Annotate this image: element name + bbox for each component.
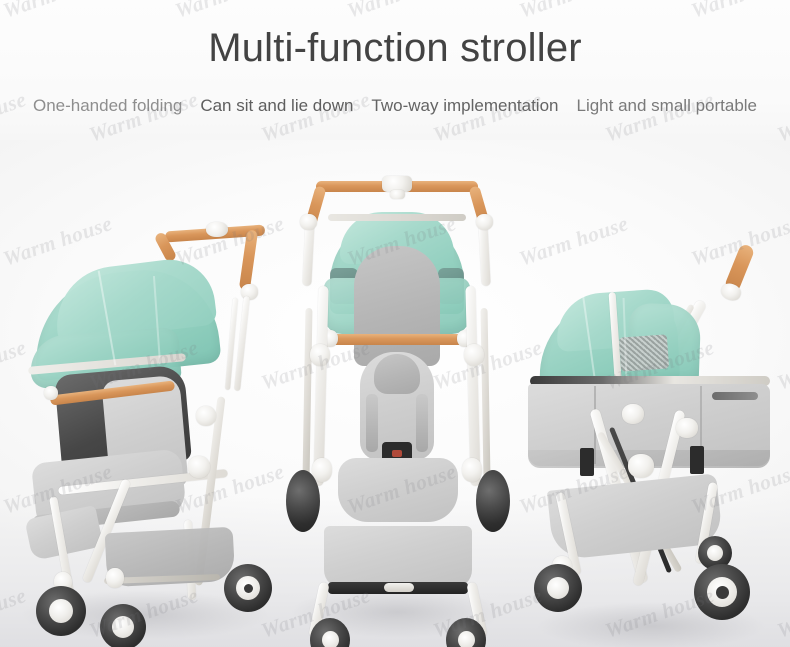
wheel-rear-right xyxy=(476,470,510,532)
wheel-front-left-hub xyxy=(547,577,569,599)
handle-joint-left xyxy=(300,214,317,230)
canopy-rim xyxy=(328,214,466,221)
frame-joint-lower-mid xyxy=(106,568,124,588)
frame-joint-upper-left xyxy=(622,404,644,424)
seat-base-fabric xyxy=(338,458,458,522)
bumper-bar xyxy=(330,334,464,345)
bassinet-strap-right xyxy=(690,446,704,474)
storage-basket xyxy=(324,526,472,588)
wheel-front-right-hub xyxy=(112,616,134,638)
stroller-view-right xyxy=(516,236,784,647)
bassinet-strap-left xyxy=(580,448,594,476)
bassinet-side-vent xyxy=(712,392,758,400)
wheel-front-left-hub xyxy=(322,631,339,647)
banner-header: Multi-function stroller One-handed foldi… xyxy=(0,0,790,140)
frame-rail-right-outer xyxy=(481,308,491,478)
feature-item-light-and-small-portable: Light and small portable xyxy=(568,96,767,116)
feature-item-can-sit-and-lie-down: Can sit and lie down xyxy=(191,96,362,116)
feature-item-one-handed-folding: One-handed folding xyxy=(24,96,191,116)
stroller-view-left xyxy=(10,220,280,647)
basket-bar-center-pad xyxy=(384,583,414,592)
frame-joint-right xyxy=(676,418,698,438)
bumper-bar-joint-left xyxy=(44,386,58,400)
wheel-front-right-hub xyxy=(458,631,475,647)
frame-joint-right-mid xyxy=(464,344,484,366)
handle-center-button xyxy=(390,190,405,199)
frame-rail-right xyxy=(465,286,480,486)
wheel-rear-large-hub-core xyxy=(716,586,729,599)
harness-strap-left xyxy=(366,394,378,452)
frame-rail-left-outer xyxy=(303,308,313,478)
handle-bar-right-curve xyxy=(239,230,258,291)
handle-joint-right xyxy=(476,214,493,230)
harness-buckle-button xyxy=(392,450,402,457)
feature-item-two-way-implementation: Two-way implementation xyxy=(362,96,567,116)
frame-rail-left xyxy=(313,286,328,486)
wheel-rear-small-hub xyxy=(707,545,723,561)
seat-back-pad xyxy=(354,246,440,366)
wheel-front-left-hub xyxy=(49,599,73,623)
wheel-rear-hub-core xyxy=(244,584,253,593)
frame-joint-center xyxy=(628,454,654,478)
frame-joint-mid xyxy=(188,456,210,478)
feature-list: One-handed folding Can sit and lie down … xyxy=(0,96,790,116)
page-title: Multi-function stroller xyxy=(0,26,790,71)
handle-hinge-top xyxy=(206,222,228,237)
frame-joint-right-low xyxy=(462,458,482,482)
wheel-rear-left xyxy=(286,470,320,532)
stroller-view-center xyxy=(282,158,512,647)
insert-headrest xyxy=(374,354,420,394)
frame-joint-hub xyxy=(196,406,216,426)
harness-strap-right xyxy=(416,394,428,452)
product-photo-band xyxy=(0,140,790,647)
frame-joint-left-mid xyxy=(310,344,330,366)
product-banner: Multi-function stroller One-handed foldi… xyxy=(0,0,790,647)
